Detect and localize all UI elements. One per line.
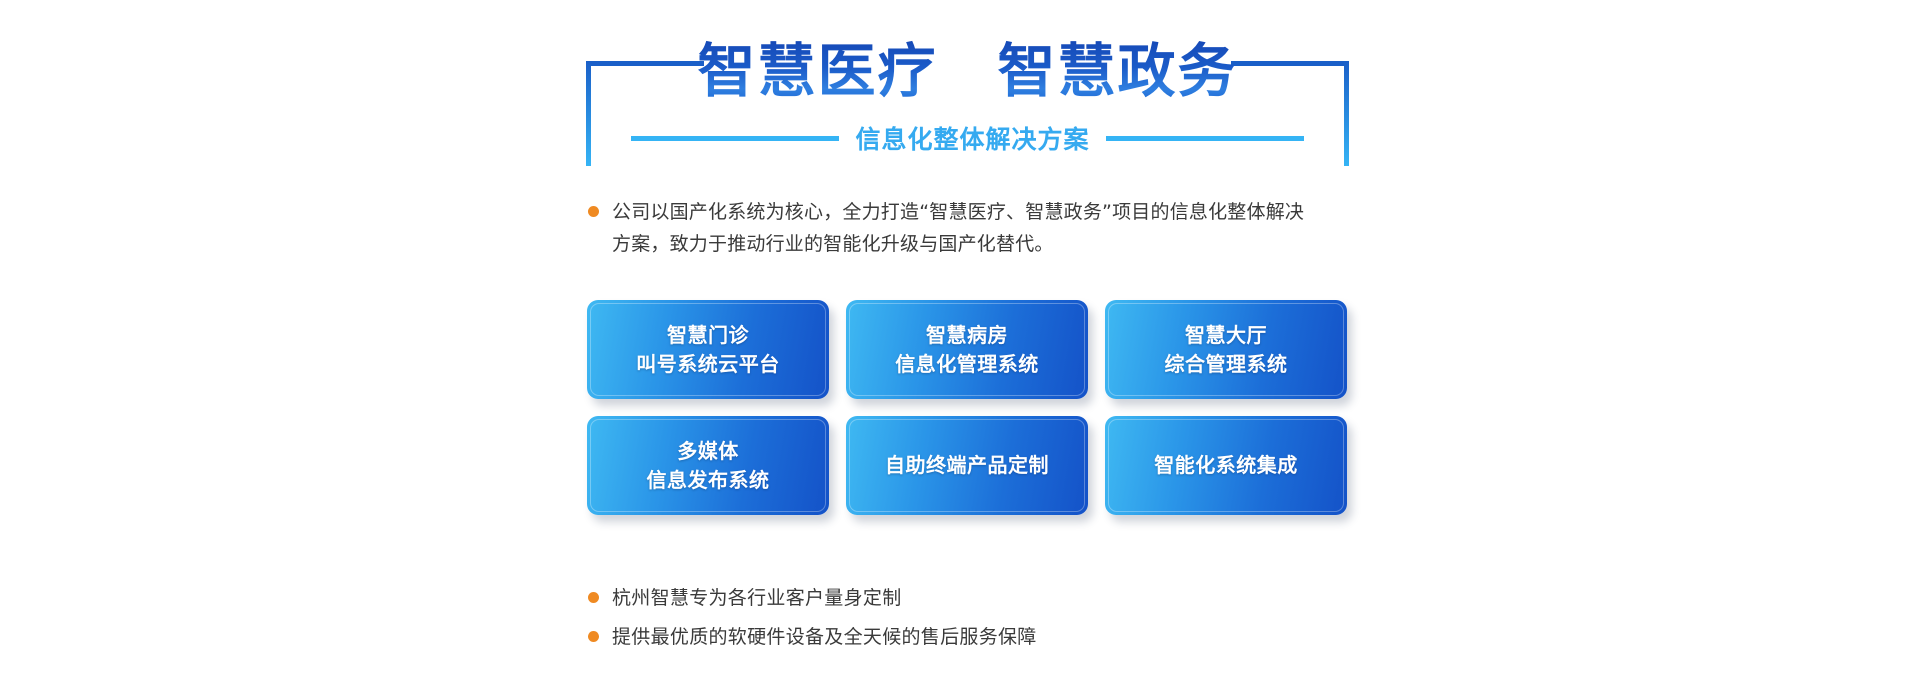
subtitle-row: 信息化整体解决方案 — [590, 121, 1345, 155]
solution-card-2[interactable]: 智慧病房 信息化管理系统 — [846, 300, 1088, 399]
solution-card-label: 智能化系统集成 — [1154, 451, 1298, 480]
solution-card-1[interactable]: 智慧门诊 叫号系统云平台 — [587, 300, 829, 399]
title-block: 智慧医疗 智慧政务 信息化整体解决方案 — [590, 25, 1345, 145]
bullet-dot-icon — [588, 631, 599, 642]
list-item: 杭州智慧专为各行业客户量身定制 — [588, 578, 1288, 617]
solution-card-label: 智慧大厅 综合管理系统 — [1165, 321, 1288, 379]
solution-card-label: 多媒体 信息发布系统 — [647, 437, 770, 495]
list-item-text: 杭州智慧专为各行业客户量身定制 — [612, 585, 902, 611]
bullet-dot-icon — [588, 592, 599, 603]
subtitle-right-rule — [1106, 136, 1304, 141]
subtitle-left-rule — [631, 136, 839, 141]
solution-card-5[interactable]: 自助终端产品定制 — [846, 416, 1088, 515]
solution-card-3[interactable]: 智慧大厅 综合管理系统 — [1105, 300, 1347, 399]
bullet-dot-icon — [588, 206, 599, 217]
solution-card-label: 智慧病房 信息化管理系统 — [895, 321, 1039, 379]
page-subtitle: 信息化整体解决方案 — [855, 120, 1089, 156]
solution-card-4[interactable]: 多媒体 信息发布系统 — [587, 416, 829, 515]
promo-page: 智慧医疗 智慧政务 信息化整体解决方案 公司以国产化系统为核心，全力打造“智慧医… — [0, 0, 1920, 680]
intro-paragraph: 公司以国产化系统为核心，全力打造“智慧医疗、智慧政务”项目的信息化整体解决方案，… — [588, 196, 1318, 260]
bottom-bullet-list: 杭州智慧专为各行业客户量身定制 提供最优质的软硬件设备及全天候的售后服务保障 — [588, 578, 1288, 656]
solution-card-6[interactable]: 智能化系统集成 — [1105, 416, 1347, 515]
list-item-text: 提供最优质的软硬件设备及全天候的售后服务保障 — [612, 624, 1037, 650]
solution-card-grid: 智慧门诊 叫号系统云平台 智慧病房 信息化管理系统 智慧大厅 综合管理系统 多媒… — [587, 300, 1347, 515]
page-title: 智慧医疗 智慧政务 — [590, 35, 1345, 107]
intro-paragraph-text: 公司以国产化系统为核心，全力打造“智慧医疗、智慧政务”项目的信息化整体解决方案，… — [612, 196, 1318, 260]
list-item: 提供最优质的软硬件设备及全天候的售后服务保障 — [588, 617, 1288, 656]
solution-card-label: 智慧门诊 叫号系统云平台 — [636, 321, 780, 379]
solution-card-label: 自助终端产品定制 — [885, 451, 1049, 480]
